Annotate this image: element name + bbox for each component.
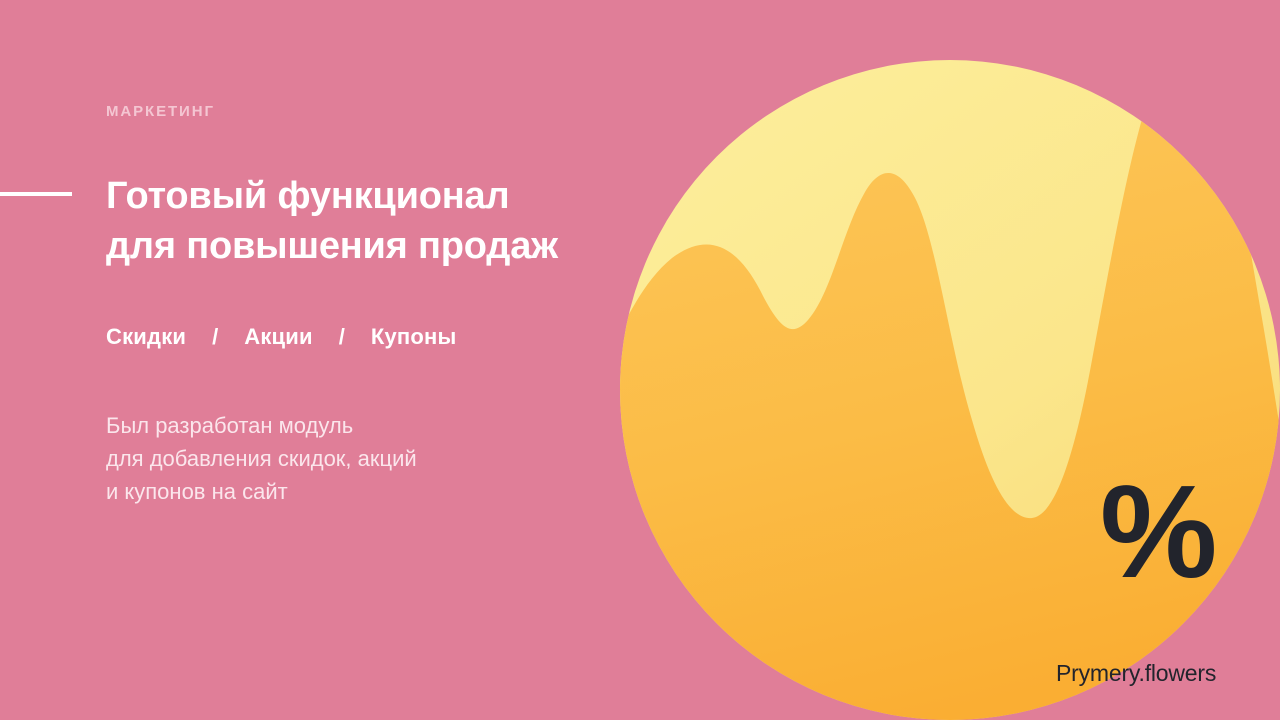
- feature-tag-discounts: Скидки: [106, 324, 186, 350]
- brand-logotype: Prymery.flowers: [1056, 660, 1216, 686]
- text-column: МАРКЕТИНГ Готовый функционал для повышен…: [0, 0, 620, 720]
- tag-separator: /: [339, 324, 345, 350]
- page-title-line-2: для повышения продаж: [106, 221, 606, 271]
- tag-separator: /: [212, 324, 218, 350]
- description-line-1: Был разработан модуль: [106, 409, 576, 442]
- description-line-3: и купонов на сайт: [106, 475, 576, 508]
- circle-backdrop: [620, 60, 1280, 720]
- wave-shape: [580, 41, 1280, 720]
- promo-slide: % Prymery.flowers МАРКЕТИНГ Готовый функ…: [0, 0, 1280, 720]
- feature-tag-list: Скидки / Акции / Купоны: [106, 324, 457, 350]
- accent-rule: [0, 192, 72, 196]
- description-text: Был разработан модуль для добавления ски…: [106, 409, 576, 508]
- percent-icon: %: [1100, 466, 1213, 598]
- description-line-2: для добавления скидок, акций: [106, 442, 576, 475]
- feature-tag-promotions: Акции: [244, 324, 312, 350]
- category-label: МАРКЕТИНГ: [106, 103, 215, 120]
- page-title: Готовый функционал для повышения продаж: [106, 171, 606, 271]
- decorative-artwork: [580, 0, 1280, 720]
- feature-tag-coupons: Купоны: [371, 324, 457, 350]
- page-title-line-1: Готовый функционал: [106, 171, 606, 221]
